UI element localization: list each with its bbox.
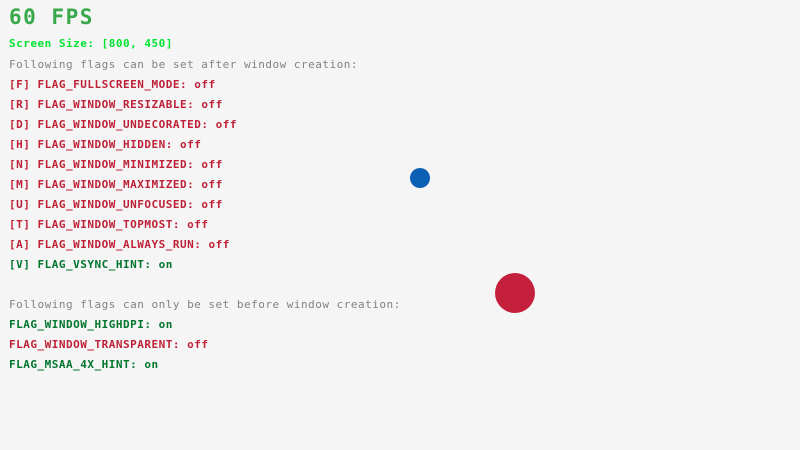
flag-separator: : bbox=[166, 138, 180, 151]
flag-shortcut-key: [U] bbox=[9, 198, 38, 211]
flag-shortcut-key: [N] bbox=[9, 158, 38, 171]
flag-separator: : bbox=[187, 158, 201, 171]
flag-name: FLAG_WINDOW_TRANSPARENT bbox=[9, 338, 173, 351]
flag-separator: : bbox=[194, 238, 208, 251]
flag-name: FLAG_WINDOW_RESIZABLE bbox=[38, 98, 188, 111]
flag-separator: : bbox=[187, 198, 201, 211]
flag-name: FLAG_WINDOW_HIDDEN bbox=[38, 138, 166, 151]
flag-separator: : bbox=[173, 218, 187, 231]
flag-row-flag-window-highdpi[interactable]: FLAG_WINDOW_HIGHDPI: on bbox=[9, 319, 489, 339]
flag-row-flag-window-resizable[interactable]: [R] FLAG_WINDOW_RESIZABLE: off bbox=[9, 99, 489, 119]
flag-state-value: off bbox=[180, 138, 201, 151]
flag-row-flag-msaa-4x-hint[interactable]: FLAG_MSAA_4X_HINT: on bbox=[9, 359, 489, 379]
flag-state-value: on bbox=[144, 358, 158, 371]
flag-state-value: off bbox=[201, 158, 222, 171]
flag-name: FLAG_WINDOW_MAXIMIZED bbox=[38, 178, 188, 191]
flag-row-flag-window-unfocused[interactable]: [U] FLAG_WINDOW_UNFOCUSED: off bbox=[9, 199, 489, 219]
flag-separator: : bbox=[173, 338, 187, 351]
flag-separator: : bbox=[180, 78, 194, 91]
flag-state-value: on bbox=[159, 318, 173, 331]
flag-shortcut-key: [H] bbox=[9, 138, 38, 151]
flag-separator: : bbox=[144, 258, 158, 271]
ball-large bbox=[495, 273, 535, 313]
flag-shortcut-key: [F] bbox=[9, 78, 38, 91]
flag-row-flag-window-topmost[interactable]: [T] FLAG_WINDOW_TOPMOST: off bbox=[9, 219, 489, 239]
flag-shortcut-key: [V] bbox=[9, 258, 38, 271]
flag-name: FLAG_VSYNC_HINT bbox=[38, 258, 145, 271]
flag-row-flag-window-undecorated[interactable]: [D] FLAG_WINDOW_UNDECORATED: off bbox=[9, 119, 489, 139]
flag-state-value: off bbox=[201, 178, 222, 191]
startup-flag-list: FLAG_WINDOW_HIGHDPI: onFLAG_WINDOW_TRANS… bbox=[9, 319, 489, 379]
flag-state-value: on bbox=[159, 258, 173, 271]
flag-separator: : bbox=[130, 358, 144, 371]
fps-counter: 60 FPS bbox=[9, 7, 94, 28]
flag-shortcut-key: [A] bbox=[9, 238, 38, 251]
startup-flags-note: Following flags can only be set before w… bbox=[9, 299, 401, 310]
flag-state-value: off bbox=[201, 98, 222, 111]
flag-state-value: off bbox=[216, 118, 237, 131]
flag-shortcut-key: [M] bbox=[9, 178, 38, 191]
flag-state-value: off bbox=[208, 238, 229, 251]
flag-separator: : bbox=[144, 318, 158, 331]
flag-row-flag-fullscreen-mode[interactable]: [F] FLAG_FULLSCREEN_MODE: off bbox=[9, 79, 489, 99]
flag-shortcut-key: [R] bbox=[9, 98, 38, 111]
flag-separator: : bbox=[187, 98, 201, 111]
flag-separator: : bbox=[201, 118, 215, 131]
flag-name: FLAG_WINDOW_MINIMIZED bbox=[38, 158, 188, 171]
flag-state-value: off bbox=[187, 218, 208, 231]
flag-name: FLAG_FULLSCREEN_MODE bbox=[38, 78, 180, 91]
flag-name: FLAG_WINDOW_HIGHDPI bbox=[9, 318, 144, 331]
flag-name: FLAG_MSAA_4X_HINT bbox=[9, 358, 130, 371]
flag-state-value: off bbox=[187, 338, 208, 351]
flag-shortcut-key: [T] bbox=[9, 218, 38, 231]
runtime-flags-note: Following flags can be set after window … bbox=[9, 59, 358, 70]
app-window: 60 FPS Screen Size: [800, 450] Following… bbox=[0, 0, 800, 450]
ball-small bbox=[410, 168, 430, 188]
flag-row-flag-window-transparent[interactable]: FLAG_WINDOW_TRANSPARENT: off bbox=[9, 339, 489, 359]
flag-name: FLAG_WINDOW_ALWAYS_RUN bbox=[38, 238, 195, 251]
flag-row-flag-window-hidden[interactable]: [H] FLAG_WINDOW_HIDDEN: off bbox=[9, 139, 489, 159]
flag-name: FLAG_WINDOW_UNFOCUSED bbox=[38, 198, 188, 211]
flag-shortcut-key: [D] bbox=[9, 118, 38, 131]
flag-state-value: off bbox=[194, 78, 215, 91]
flag-separator: : bbox=[187, 178, 201, 191]
flag-name: FLAG_WINDOW_UNDECORATED bbox=[38, 118, 202, 131]
flag-row-flag-window-always-run[interactable]: [A] FLAG_WINDOW_ALWAYS_RUN: off bbox=[9, 239, 489, 259]
flag-name: FLAG_WINDOW_TOPMOST bbox=[38, 218, 173, 231]
flag-state-value: off bbox=[201, 198, 222, 211]
flag-row-flag-vsync-hint[interactable]: [V] FLAG_VSYNC_HINT: on bbox=[9, 259, 489, 279]
screen-size-label: Screen Size: [800, 450] bbox=[9, 38, 173, 49]
